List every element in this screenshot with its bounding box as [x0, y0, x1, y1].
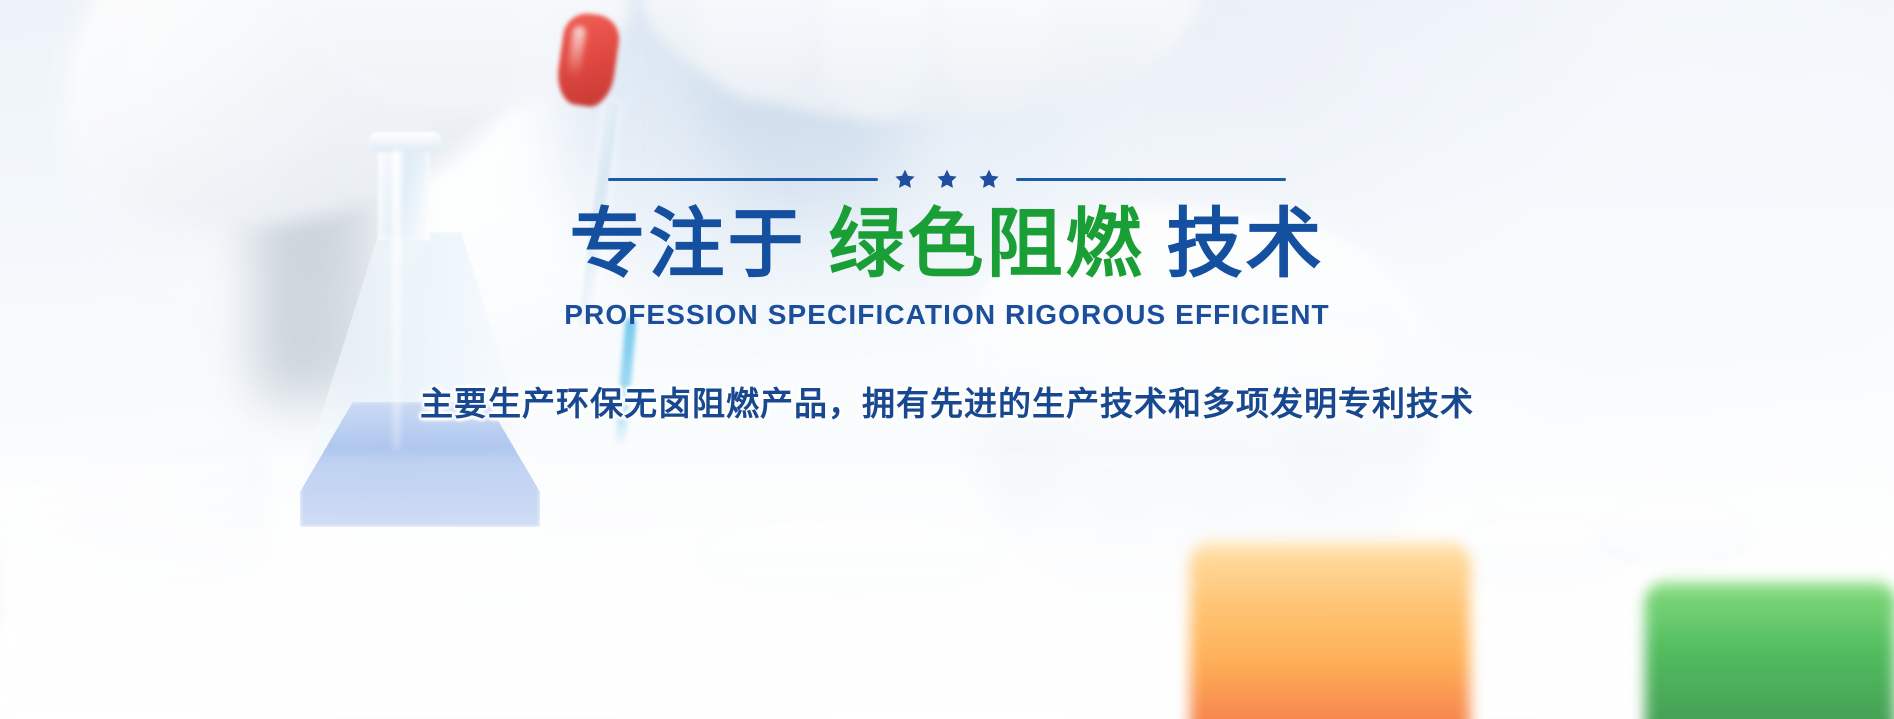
english-subtitle: PROFESSION SPECIFICATION RIGOROUS EFFICI… [564, 299, 1330, 331]
headline-part-one: 专注于 [570, 202, 807, 287]
hero-banner: 专注于绿色阻燃技术 PROFESSION SPECIFICATION RIGOR… [0, 0, 1894, 719]
headline-part-three: 技术 [1167, 202, 1325, 287]
headline-part-two: 绿色阻燃 [829, 202, 1145, 287]
star-icon [894, 168, 916, 190]
divider-rule-left [608, 178, 878, 181]
star-group [894, 168, 1000, 190]
banner-description: 主要生产环保无卤阻燃产品，拥有先进的生产技术和多项发明专利技术 [420, 377, 1474, 425]
divider-with-stars [608, 168, 1286, 190]
star-icon [978, 168, 1000, 190]
divider-rule-right [1016, 178, 1286, 181]
star-icon [936, 168, 958, 190]
page-title: 专注于绿色阻燃技术 [570, 202, 1325, 287]
banner-content: 专注于绿色阻燃技术 PROFESSION SPECIFICATION RIGOR… [0, 0, 1894, 719]
